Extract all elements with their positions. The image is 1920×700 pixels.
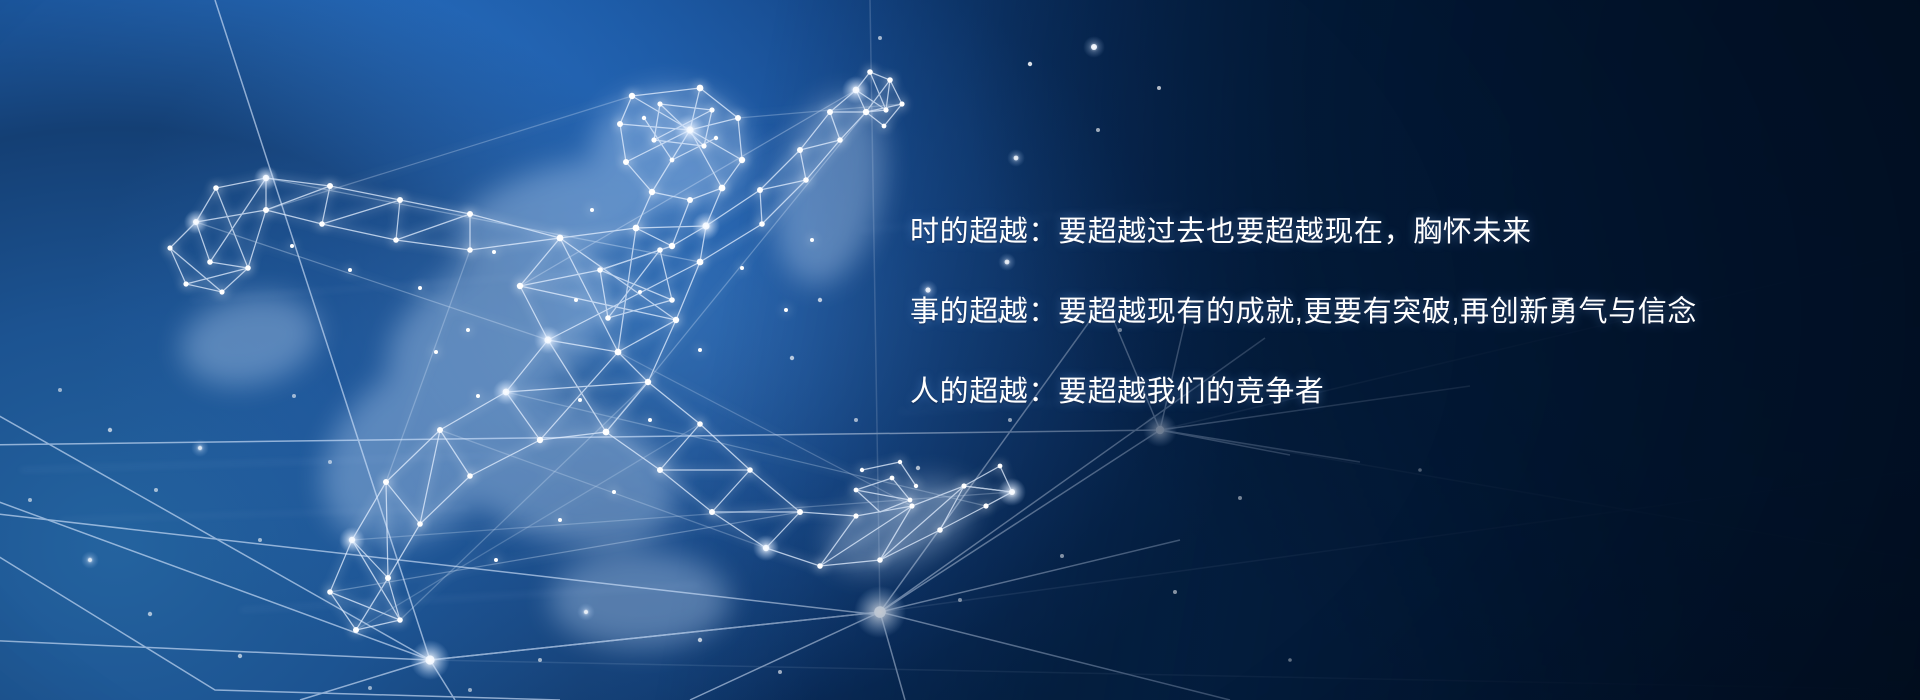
banner-text-line-1: 时的超越：要超越过去也要超越现在，胸怀未来 <box>910 218 1670 247</box>
banner-text-line-2: 事的超越：要超越现有的成就,更要有突破,再创新勇气与信念 <box>910 298 1670 327</box>
banner-text-block: 时的超越：要超越过去也要超越现在，胸怀未来 事的超越：要超越现有的成就,更要有突… <box>910 218 1670 407</box>
banner-text-line-3: 人的超越：要超越我们的竞争者 <box>910 378 1670 407</box>
hero-banner: 时的超越：要超越过去也要超越现在，胸怀未来 事的超越：要超越现有的成就,更要有突… <box>0 0 1920 700</box>
